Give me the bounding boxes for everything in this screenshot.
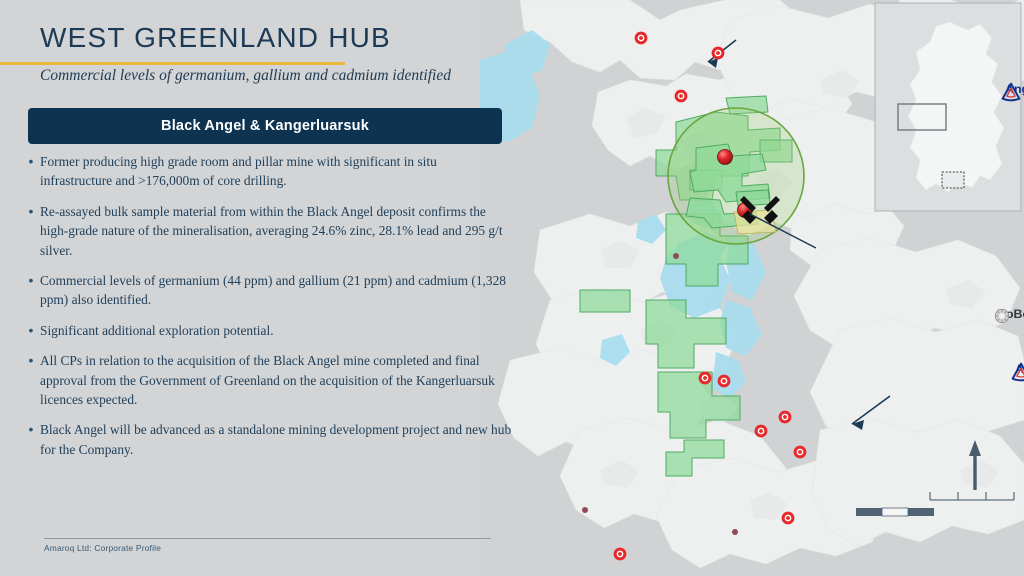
company-logo-angloamerican-1: AngloAmerican — [1001, 82, 1024, 96]
list-item: • All CPs in relation to the acquisition… — [22, 351, 512, 409]
company-logo-kobold-metals: KoBold Metals — [993, 307, 1024, 321]
inset-locator-map — [875, 3, 1021, 211]
kobold-metals-logo-icon — [993, 307, 1011, 325]
bullet-marker-icon: • — [22, 420, 40, 459]
bullet-text: Re-assayed bulk sample material from wit… — [40, 202, 512, 260]
bullet-text: Former producing high grade room and pil… — [40, 152, 512, 191]
bullet-marker-icon: • — [22, 351, 40, 409]
list-item: • Commercial levels of germanium (44 ppm… — [22, 271, 512, 310]
section-banner: Black Angel & Kangerluarsuk — [28, 108, 502, 144]
bullet-marker-icon: • — [22, 152, 40, 191]
company-logo-angloamerican-3: AngloAmerican — [1011, 362, 1024, 376]
bullet-text: Black Angel will be advanced as a standa… — [40, 420, 512, 459]
settlement-dot-ilulissat — [732, 529, 738, 535]
page-title: WEST GREENLAND HUB — [40, 22, 391, 54]
footer-divider — [44, 538, 491, 539]
deposit-marker-kangerluarsuk — [718, 150, 733, 165]
map-panel[interactable]: Au Au REE Au Au Cu Cu Cu Cu Au Kangerlua… — [480, 0, 1024, 576]
settlement-dot-qeqertarsuaq — [582, 507, 588, 513]
map-graphic — [480, 0, 1024, 576]
section-banner-label: Black Angel & Kangerluarsuk — [161, 118, 369, 134]
list-item: • Significant additional exploration pot… — [22, 321, 512, 340]
inset-legend-swatch — [942, 172, 964, 188]
list-item: • Former producing high grade room and p… — [22, 152, 512, 191]
bullet-marker-icon: • — [22, 202, 40, 260]
list-item: • Re-assayed bulk sample material from w… — [22, 202, 512, 260]
bullet-marker-icon: • — [22, 321, 40, 340]
bullet-text: All CPs in relation to the acquisition o… — [40, 351, 512, 409]
slide-root: Au Au REE Au Au Cu Cu Cu Cu Au Kangerlua… — [0, 0, 1024, 576]
footer-text: Amaroq Ltd: Corporate Profile — [44, 543, 161, 553]
settlement-dot-qaarsut — [673, 253, 679, 259]
page-subtitle: Commercial levels of germanium, gallium … — [40, 67, 510, 85]
angloamerican-logo-icon — [1011, 362, 1024, 382]
bullet-marker-icon: • — [22, 271, 40, 310]
title-divider — [0, 62, 345, 65]
list-item: • Black Angel will be advanced as a stan… — [22, 420, 512, 459]
angloamerican-logo-icon — [1001, 82, 1021, 102]
bullet-list: • Former producing high grade room and p… — [22, 152, 512, 470]
bullet-text: Commercial levels of germanium (44 ppm) … — [40, 271, 512, 310]
bullet-text: Significant additional exploration poten… — [40, 321, 274, 340]
